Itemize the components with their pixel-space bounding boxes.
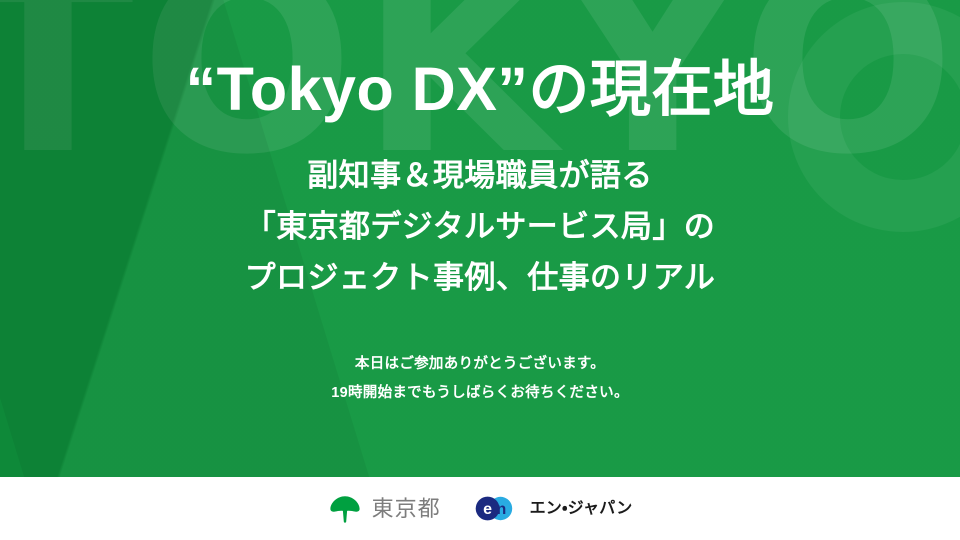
subtitle-line-1: 副知事＆現場職員が語る [245,151,716,202]
notice-line-1: 本日はご参加ありがとうございます。 [331,350,629,379]
subtitle-line-2: 「東京都デジタルサービス局」の [245,202,716,253]
tokyo-logo-label: 東京都 [372,498,441,520]
subtitle-line-3: プロジェクト事例、仕事のリアル [245,253,716,304]
ginkgo-leaf-icon [328,494,362,524]
notice-line-2: 19時開始までもうしばらくお待ちください。 [331,379,629,408]
svg-text:n: n [496,501,506,518]
presentation-slide: TOKYO “Tokyo DX”の現在地 副知事＆現場職員が語る 「東京都デジタ… [0,0,960,540]
hero-content: “Tokyo DX”の現在地 副知事＆現場職員が語る 「東京都デジタルサービス局… [0,0,960,477]
subtitle-block: 副知事＆現場職員が語る 「東京都デジタルサービス局」の プロジェクト事例、仕事の… [245,151,716,303]
notice-block: 本日はご参加ありがとうございます。 19時開始までもうしばらくお待ちください。 [331,350,629,408]
hero-panel: TOKYO “Tokyo DX”の現在地 副知事＆現場職員が語る 「東京都デジタ… [0,0,960,477]
en-japan-logo: e n エン・ジャパン [475,496,633,521]
tokyo-metropolitan-logo: 東京都 [328,494,441,524]
footer-logo-bar: 東京都 e n エン・ジャパン [0,477,960,540]
svg-text:e: e [483,501,492,518]
en-japan-logo-label: エン・ジャパン [530,501,633,517]
page-title: “Tokyo DX”の現在地 [186,55,775,123]
en-circles-icon: e n [475,496,522,521]
